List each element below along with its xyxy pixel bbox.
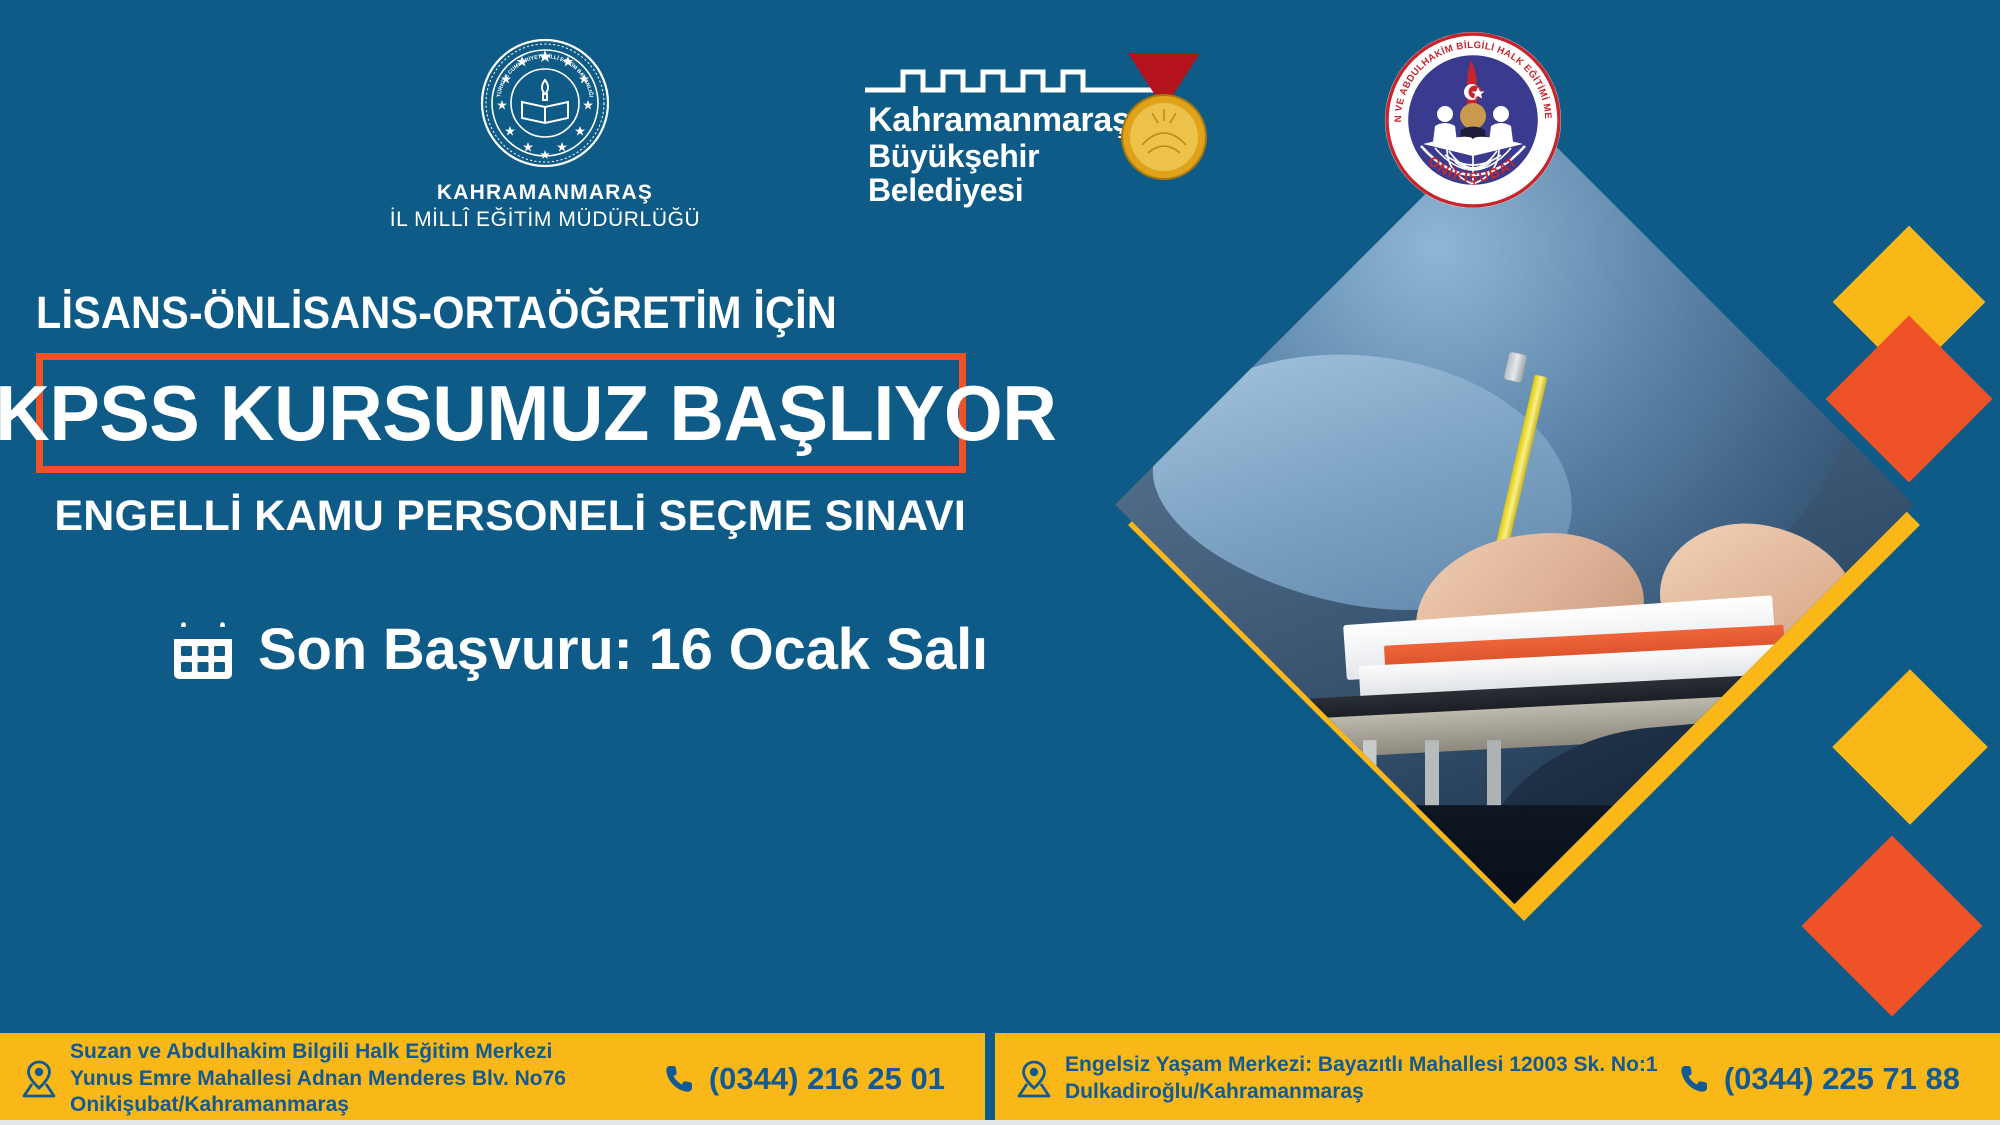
gold-medal-icon (1118, 53, 1210, 181)
footer-right-phone[interactable]: (0344) 225 71 88 (1678, 1061, 1960, 1097)
phone-icon (1678, 1063, 1710, 1095)
footer-contact-bars: Suzan ve Abdulhakim Bilgili Halk Eğitim … (0, 1033, 2000, 1125)
footer-left-bar: Suzan ve Abdulhakim Bilgili Halk Eğitim … (0, 1033, 985, 1125)
headline-box: EKPSS KURSUMUZ BAŞLIYOR (36, 353, 966, 473)
footer-left-address-line1: Suzan ve Abdulhakim Bilgili Halk Eğitim … (70, 1039, 663, 1066)
footer-right-address-line2: Dulkadiroğlu/Kahramanmaraş (1065, 1079, 1658, 1106)
meb-caption: KAHRAMANMARAŞ İL MİLLÎ EĞİTİM MÜDÜRLÜĞÜ (330, 180, 760, 234)
kahramanmaras-belediye-logo: Kahramanmaraş Büyükşehir Belediyesi (865, 58, 1185, 183)
yellow-diamond-small-2 (1832, 669, 1988, 825)
location-pin-icon (22, 1060, 56, 1098)
footer-left-address-line2: Yunus Emre Mahallesi Adnan Menderes Blv.… (70, 1066, 663, 1120)
footer-right-phone-number: (0344) 225 71 88 (1724, 1061, 1960, 1097)
footer-left-phone[interactable]: (0344) 216 25 01 (663, 1061, 945, 1097)
footer-right-address-line1: Engelsiz Yaşam Merkezi: Bayazıtlı Mahall… (1065, 1052, 1658, 1079)
halk-egitim-merkezi-emblem: SUZAN VE ABDULHAKİM BİLGİLİ HALK EĞİTİMİ… (1383, 30, 1563, 210)
footer-separator (985, 1033, 995, 1125)
location-pin-icon (1017, 1060, 1051, 1098)
meb-caption-line2: İL MİLLÎ EĞİTİM MÜDÜRLÜĞÜ (330, 206, 760, 233)
orange-diamond-small-2 (1801, 835, 1982, 1016)
meb-seal-icon: TÜRKİYE CUMHURİYETİ MİLLİ EĞİTİM BAKANLI… (480, 38, 610, 168)
deadline-text: Son Başvuru: 16 Ocak Salı (258, 616, 988, 683)
meb-caption-line1: KAHRAMANMARAŞ (330, 180, 760, 206)
castle-crenellation-icon (865, 58, 1155, 98)
calendar-icon (170, 617, 236, 683)
poster-root: TÜRKİYE CUMHURİYETİ MİLLİ EĞİTİM BAKANLI… (0, 0, 2000, 1125)
subheadline-text: ENGELLİ KAMU PERSONELİ SEÇME SINAVI (36, 495, 966, 538)
logo-strip: TÜRKİYE CUMHURİYETİ MİLLİ EĞİTİM BAKANLI… (0, 0, 2000, 255)
footer-bottom-rule (0, 1120, 2000, 1125)
footer-left-address: Suzan ve Abdulhakim Bilgili Halk Eğitim … (70, 1039, 663, 1120)
phone-icon (663, 1063, 695, 1095)
page-title: EKPSS KURSUMUZ BAŞLIYOR (0, 374, 1057, 452)
main-content: LİSANS-ÖNLİSANS-ORTAÖĞRETİM İÇİN EKPSS K… (0, 290, 1200, 683)
deadline-row: Son Başvuru: 16 Ocak Salı (170, 616, 1200, 683)
kicker-text: LİSANS-ÖNLİSANS-ORTAÖĞRETİM İÇİN (36, 290, 1107, 335)
footer-right-address: Engelsiz Yaşam Merkezi: Bayazıtlı Mahall… (1065, 1052, 1658, 1106)
footer-right-bar: Engelsiz Yaşam Merkezi: Bayazıtlı Mahall… (995, 1033, 2000, 1125)
svg-text:TÜRKİYE CUMHURİYETİ MİLLİ EĞİT: TÜRKİYE CUMHURİYETİ MİLLİ EĞİTİM BAKANLI… (496, 53, 595, 98)
footer-left-phone-number: (0344) 216 25 01 (709, 1061, 945, 1097)
